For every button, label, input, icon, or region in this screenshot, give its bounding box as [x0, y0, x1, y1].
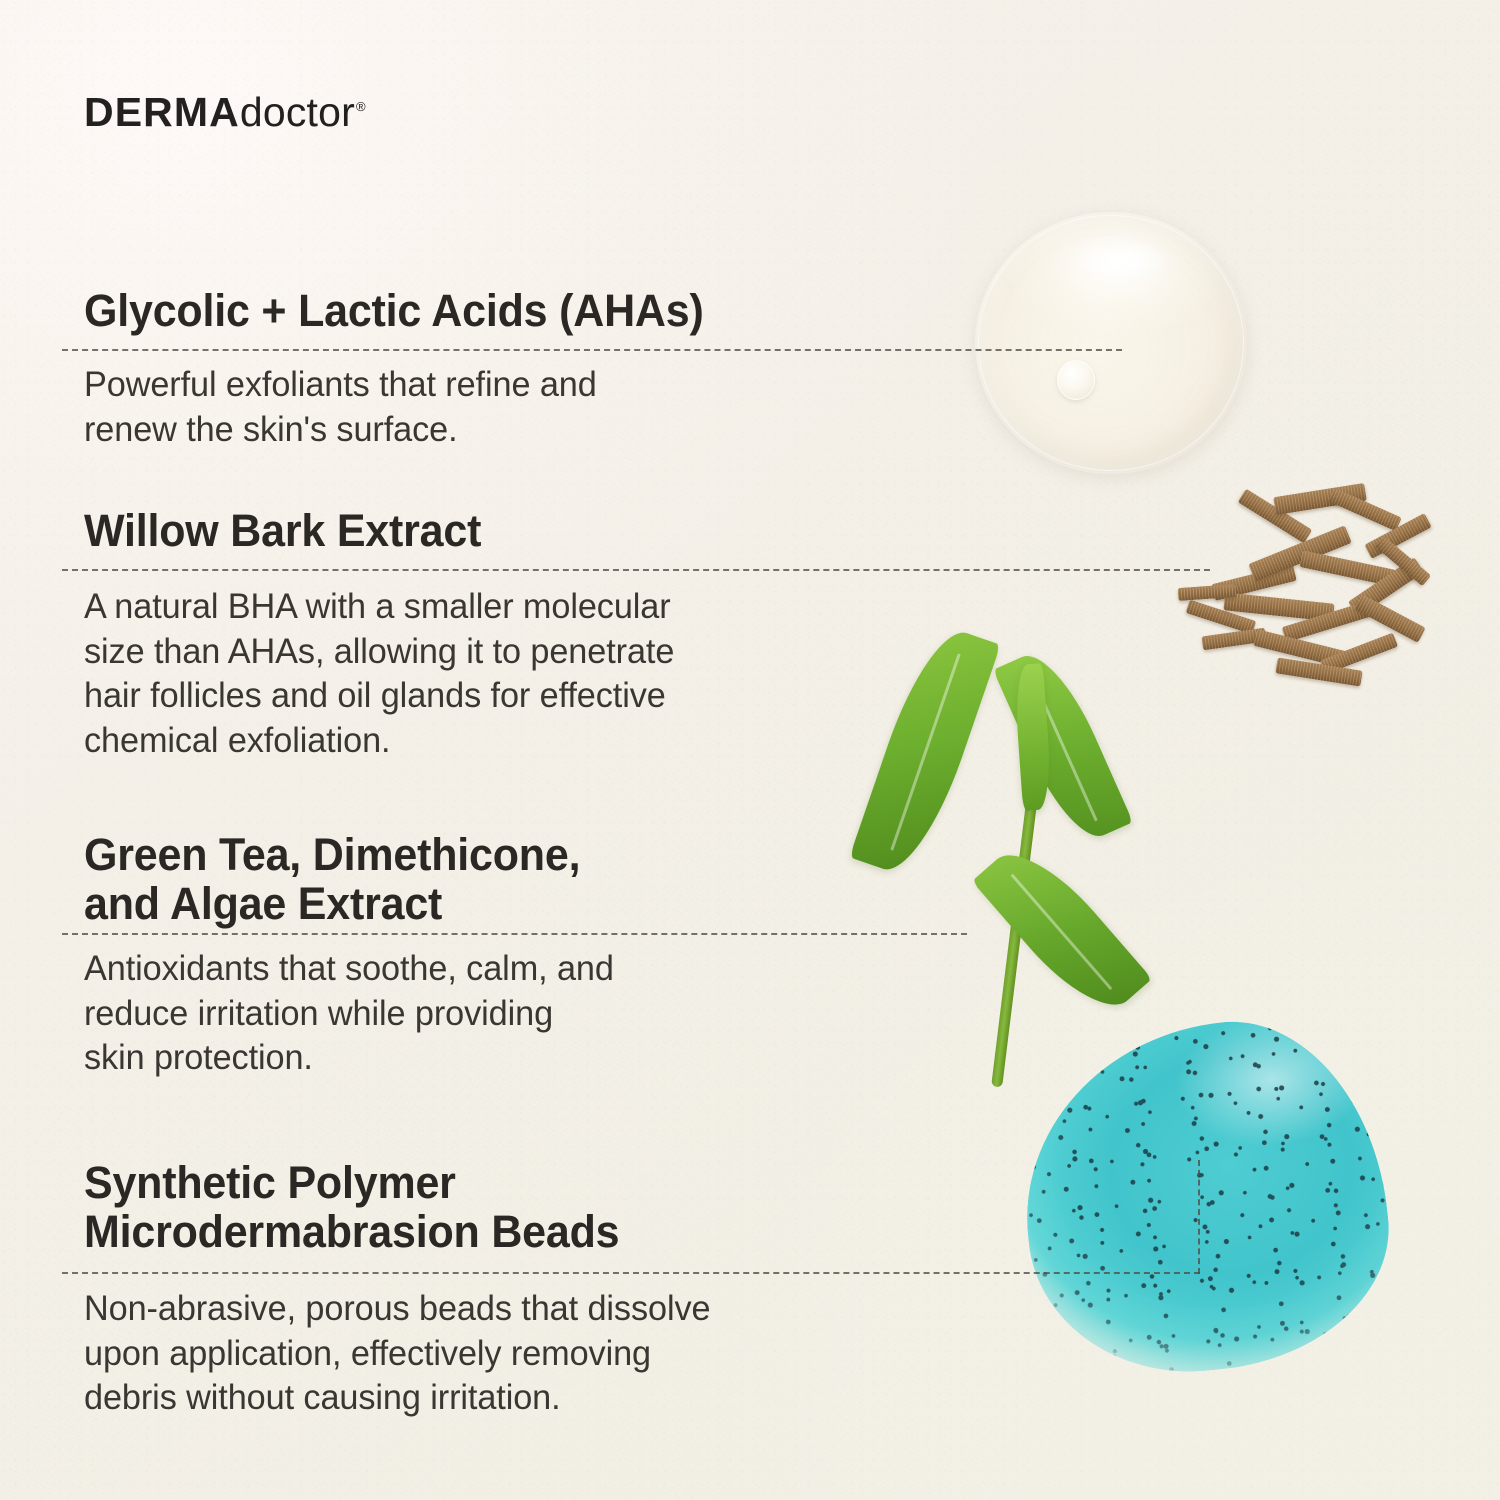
- section-body-text: Non-abrasive, porous beads that dissolve…: [84, 1286, 710, 1420]
- droplet-bubble: [1057, 360, 1095, 400]
- willow-bark-chips-image: [1178, 482, 1440, 700]
- section-willow-bark-extract-body: A natural BHA with a smaller molecular s…: [84, 584, 696, 763]
- brand-logo-light: doctor: [240, 89, 355, 135]
- section-body-text: Antioxidants that soothe, calm, and redu…: [84, 946, 614, 1080]
- section-heading: Willow Bark Extract: [84, 506, 481, 555]
- section-green-tea-body: Antioxidants that soothe, calm, and redu…: [84, 946, 633, 1080]
- section-green-tea-heading: Green Tea, Dimethicone, and Algae Extrac…: [84, 830, 604, 928]
- brand-logo-bold: DERMA: [84, 89, 240, 135]
- droplet-highlight: [1073, 240, 1169, 280]
- infographic-page: DERMAdoctor®: [0, 0, 1500, 1500]
- section-divider: [62, 349, 1122, 351]
- section-heading: Synthetic Polymer Microdermabrasion Bead…: [84, 1158, 619, 1256]
- section-glycolic-lactic-acids-body: Powerful exfoliants that refine and rene…: [84, 362, 615, 451]
- registered-trademark-symbol: ®: [356, 99, 366, 114]
- section-heading: Glycolic + Lactic Acids (AHAs): [84, 286, 704, 335]
- section-synthetic-polymer-beads-body: Non-abrasive, porous beads that dissolve…: [84, 1286, 733, 1420]
- section-synthetic-polymer-beads-heading: Synthetic Polymer Microdermabrasion Bead…: [84, 1158, 645, 1256]
- gel-droplet-image: [975, 212, 1247, 474]
- section-divider-vertical: [1198, 1160, 1200, 1274]
- section-body-text: A natural BHA with a smaller molecular s…: [84, 584, 674, 763]
- section-willow-bark-extract-heading: Willow Bark Extract: [84, 506, 500, 555]
- section-divider: [62, 1272, 1200, 1274]
- section-body-text: Powerful exfoliants that refine and rene…: [84, 362, 597, 451]
- turquoise-scrub-swatch-image: [1025, 1025, 1385, 1370]
- section-divider: [62, 569, 1210, 571]
- section-divider: [62, 933, 967, 935]
- brand-logo: DERMAdoctor®: [84, 92, 366, 133]
- section-glycolic-lactic-acids-heading: Glycolic + Lactic Acids (AHAs): [84, 286, 733, 335]
- section-heading: Green Tea, Dimethicone, and Algae Extrac…: [84, 830, 580, 928]
